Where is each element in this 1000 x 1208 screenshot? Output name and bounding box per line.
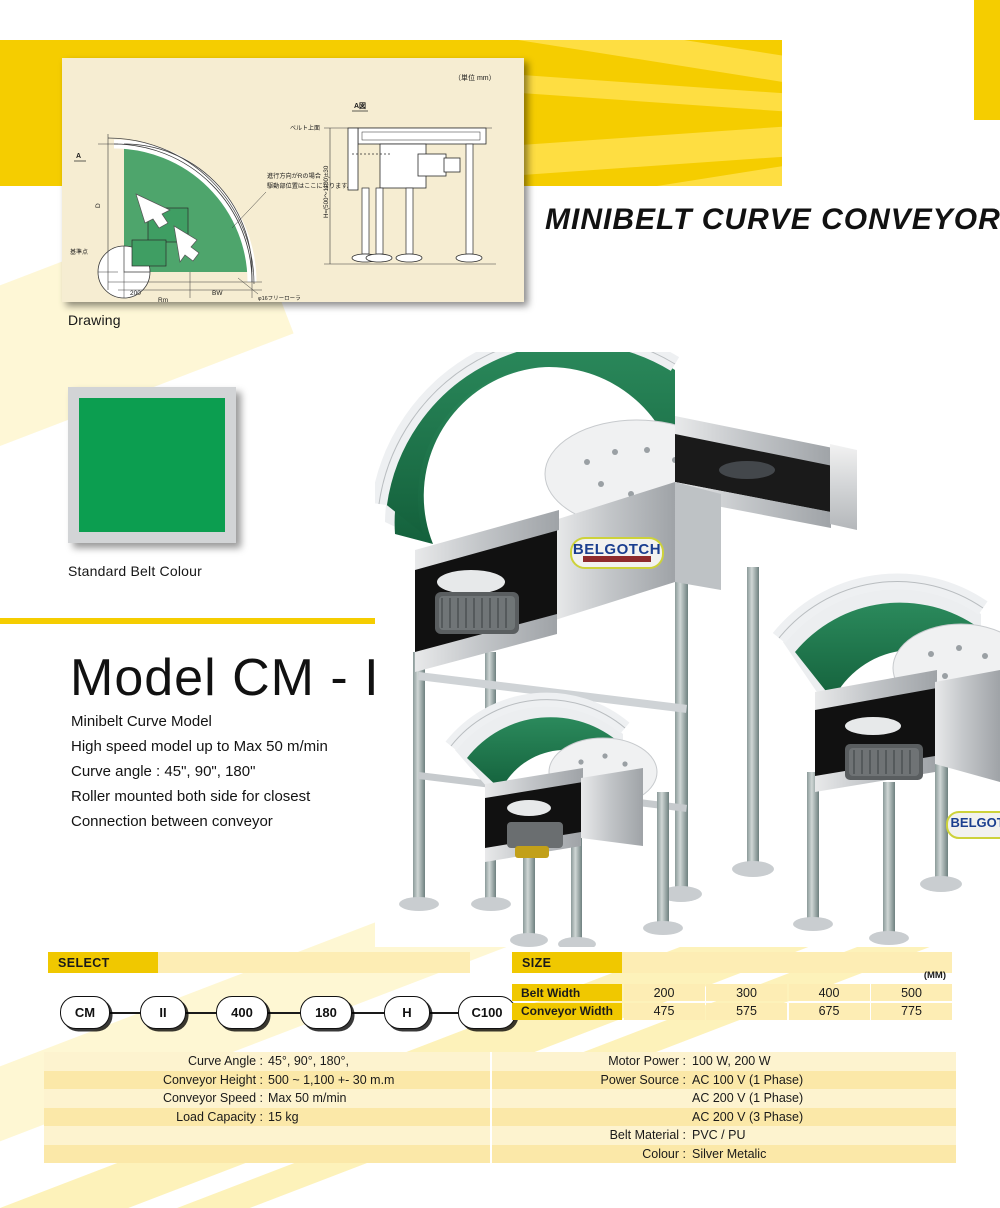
spec-row: Conveyor Speed :Max 50 m/min AC 200 V (1… [44, 1089, 956, 1108]
table-cell: 200 [624, 984, 705, 1001]
spec-row: Belt Material :PVC / PU [44, 1126, 956, 1145]
size-table: (MM) Belt Width 200 300 400 500 Conveyor… [512, 984, 952, 1021]
svg-text:BW: BW [212, 290, 223, 297]
spec-value: Silver Metalic [692, 1147, 766, 1161]
svg-text:A: A [76, 153, 81, 160]
drawing-caption: Drawing [68, 312, 121, 328]
svg-text:BELGOTCH: BELGOTCH [573, 541, 661, 558]
technical-drawing-image: A D 基準点 200 Rm BW φ16フリーローラ 進行方向がRの場合 駆動… [62, 58, 524, 302]
svg-text:D: D [95, 203, 102, 208]
spec-row: Conveyor Height :500 ~ 1,100 +- 30 m.m P… [44, 1071, 956, 1090]
spec-key: Conveyor Height : [163, 1073, 263, 1087]
size-label: SIZE [522, 956, 551, 970]
spec-value: AC 200 V (3 Phase) [692, 1110, 803, 1124]
svg-text:Rm: Rm [158, 297, 168, 302]
table-row: Conveyor Width 475 575 675 775 [512, 1003, 952, 1020]
size-tag: SIZE [512, 952, 622, 973]
spec-key: Conveyor Speed : [163, 1091, 263, 1105]
pill-label: C100 [471, 1005, 502, 1020]
pill-label: CM [75, 1005, 95, 1020]
spec-value: AC 200 V (1 Phase) [692, 1091, 803, 1105]
belt-colour-fill [79, 398, 225, 532]
pill-label: 180 [315, 1005, 337, 1020]
spec-key: Load Capacity : [176, 1110, 263, 1124]
svg-text:200: 200 [130, 290, 141, 297]
standard-belt-colour-swatch [68, 387, 236, 543]
spec-row: Curve Angle :45°, 90°, 180°, Motor Power… [44, 1052, 956, 1071]
spec-row: Colour :Silver Metalic [44, 1145, 956, 1164]
svg-text:ベルト上面: ベルト上面 [290, 124, 320, 132]
spec-key: Curve Angle : [188, 1054, 263, 1068]
svg-text:H=(500～1100)±30: H=(500～1100)±30 [323, 165, 330, 218]
size-section-header: SIZE [512, 952, 952, 973]
table-cell: 675 [789, 1003, 870, 1020]
spec-value: 100 W, 200 W [692, 1054, 771, 1068]
spec-value: 15 kg [268, 1110, 299, 1124]
select-tag: SELECT [48, 952, 158, 973]
svg-text:駆動部位置はここになります。: 駆動部位置はここになります。 [267, 182, 353, 190]
spec-key: Power Source : [601, 1073, 686, 1087]
select-section-header: SELECT [48, 952, 470, 973]
swatch-caption: Standard Belt Colour [68, 563, 202, 579]
svg-text:基準点: 基準点 [70, 248, 88, 256]
spec-value: Max 50 m/min [268, 1091, 347, 1105]
spec-row: Load Capacity :15 kg AC 200 V (3 Phase) [44, 1108, 956, 1127]
pill-cm[interactable]: CM [60, 996, 110, 1029]
table-cell: 775 [871, 1003, 952, 1020]
row-header: Belt Width [512, 984, 622, 1001]
svg-text:（単位 mm）: （単位 mm） [454, 73, 496, 82]
select-label: SELECT [58, 956, 110, 970]
table-cell: 575 [706, 1003, 787, 1020]
model-title: Model CM - II. [70, 648, 411, 708]
pill-option[interactable]: C100 [458, 996, 516, 1029]
pill-height[interactable]: H [384, 996, 430, 1029]
svg-text:φ16フリーローラ: φ16フリーローラ [258, 295, 301, 302]
page-title: MINIBELT CURVE CONVEYOR [545, 203, 1000, 237]
spec-value: AC 100 V (1 Phase) [692, 1073, 803, 1087]
specification-table: Curve Angle :45°, 90°, 180°, Motor Power… [44, 1052, 956, 1163]
row-header: Conveyor Width [512, 1003, 622, 1020]
pill-label: II [159, 1005, 166, 1020]
spec-key: Colour : [642, 1147, 686, 1161]
table-cell: 300 [706, 984, 787, 1001]
spec-value: 45°, 90°, 180°, [268, 1054, 349, 1068]
model-code-selector: CM II 400 180 H C100 [48, 996, 478, 1030]
catalog-page: A D 基準点 200 Rm BW φ16フリーローラ 進行方向がRの場合 駆動… [0, 0, 1000, 1208]
svg-text:BELGOTCH: BELGOTCH [951, 815, 1000, 830]
spec-value: 500 ~ 1,100 +- 30 m.m [268, 1073, 394, 1087]
table-cell: 400 [789, 984, 870, 1001]
size-unit-label: (MM) [924, 970, 946, 981]
product-photo: BELGOTCH [375, 352, 1000, 947]
spec-value: PVC / PU [692, 1128, 746, 1142]
spec-key: Belt Material : [610, 1128, 686, 1142]
table-cell: 500 [871, 984, 952, 1001]
pill-curve-angle[interactable]: 180 [300, 996, 352, 1029]
pill-belt-width[interactable]: 400 [216, 996, 268, 1029]
pill-label: 400 [231, 1005, 253, 1020]
yellow-divider-rule [0, 618, 396, 624]
spec-key: Motor Power : [608, 1054, 686, 1068]
table-row: Belt Width 200 300 400 500 [512, 984, 952, 1001]
table-cell: 475 [624, 1003, 705, 1020]
right-edge-yellow-tab [974, 0, 1000, 120]
svg-text:進行方向がRの場合: 進行方向がRの場合 [267, 172, 321, 180]
pill-label: H [402, 1005, 411, 1020]
svg-text:A図: A図 [354, 101, 366, 110]
pill-series[interactable]: II [140, 996, 186, 1029]
